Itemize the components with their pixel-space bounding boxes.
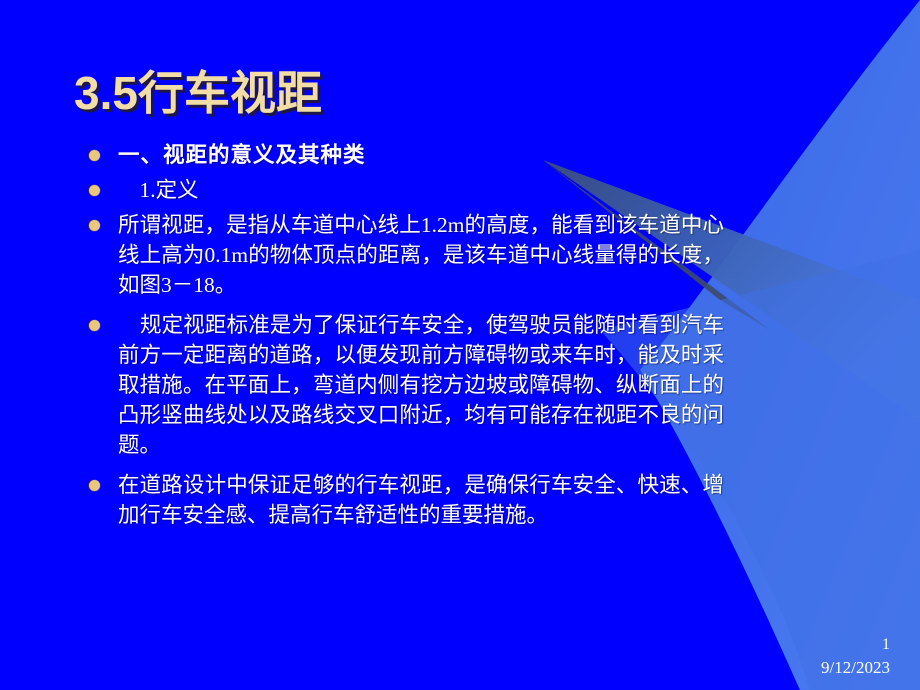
presentation-slide: 3.5行车视距 一、视距的意义及其种类 1.定义 所谓视距，是指从车道中心线上1… (0, 0, 920, 690)
list-item: 1.定义 (84, 175, 724, 205)
list-item-text: 规定视距标准是为了保证行车安全，使驾驶员能随时看到汽车前方一定距离的道路，以便发… (118, 310, 724, 460)
list-item-text: 所谓视距，是指从车道中心线上1.2m的高度，能看到该车道中心线上高为0.1m的物… (118, 210, 724, 300)
list-item-text: 1.定义 (118, 175, 724, 205)
bullet-dot-icon (89, 220, 100, 231)
list-item: 在道路设计中保证足够的行车视距，是确保行车安全、快速、增加行车安全感、提高行车舒… (84, 470, 724, 530)
slide-date: 9/12/2023 (821, 658, 890, 678)
page-title: 3.5行车视距 (74, 57, 322, 123)
bullet-dot-icon (89, 185, 100, 196)
list-item-text: 一、视距的意义及其种类 (118, 140, 724, 170)
slide-body-content: 一、视距的意义及其种类 1.定义 所谓视距，是指从车道中心线上1.2m的高度，能… (84, 140, 724, 532)
bullet-dot-icon (89, 150, 100, 161)
list-item: 规定视距标准是为了保证行车安全，使驾驶员能随时看到汽车前方一定距离的道路，以便发… (84, 310, 724, 460)
spacer (84, 302, 724, 310)
list-item-text: 在道路设计中保证足够的行车视距，是确保行车安全、快速、增加行车安全感、提高行车舒… (118, 470, 724, 530)
bullet-dot-icon (89, 480, 100, 491)
list-item: 一、视距的意义及其种类 (84, 140, 724, 170)
spacer (84, 462, 724, 470)
list-item: 所谓视距，是指从车道中心线上1.2m的高度，能看到该车道中心线上高为0.1m的物… (84, 210, 724, 300)
bullet-dot-icon (89, 320, 100, 331)
slide-number: 1 (882, 636, 890, 654)
